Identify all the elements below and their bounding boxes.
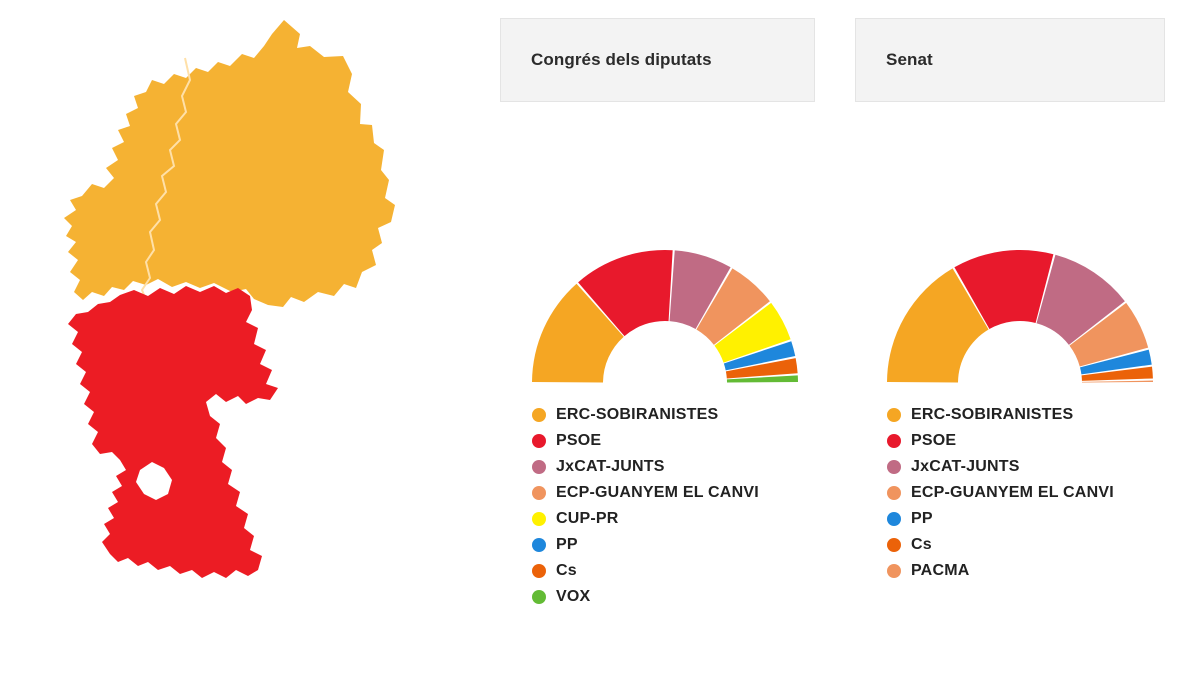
legend-color-swatch bbox=[887, 434, 901, 448]
legend-item[interactable]: ERC-SOBIRANISTES bbox=[887, 402, 1185, 428]
legend-item-label: Cs bbox=[556, 563, 577, 579]
legend-item[interactable]: PP bbox=[887, 506, 1185, 532]
legend-item[interactable]: ECP-GUANYEM EL CANVI bbox=[532, 480, 830, 506]
legend-congres: ERC-SOBIRANISTESPSOEJxCAT-JUNTSECP-GUANY… bbox=[500, 402, 830, 610]
panel-title-congres: Congrés dels diputats bbox=[501, 50, 712, 70]
legend-color-swatch bbox=[532, 434, 546, 448]
hemicycle-congres-svg: ERC-SOBIRANISTES: 13PSOE: 12JxCAT-JUNTS:… bbox=[515, 240, 815, 390]
legend-color-swatch bbox=[887, 538, 901, 552]
hemicycle-congres[interactable]: ERC-SOBIRANISTES: 13PSOE: 12JxCAT-JUNTS:… bbox=[515, 240, 815, 390]
map-region-barcelona-tarragona[interactable] bbox=[68, 286, 278, 578]
legend-item-label: ECP-GUANYEM EL CANVI bbox=[911, 485, 1114, 501]
legend-item-label: PP bbox=[556, 537, 578, 553]
legend-item[interactable]: PP bbox=[532, 532, 830, 558]
legend-item-label: ECP-GUANYEM EL CANVI bbox=[556, 485, 759, 501]
legend-color-swatch bbox=[532, 408, 546, 422]
catalonia-map[interactable] bbox=[0, 0, 480, 620]
legend-item[interactable]: VOX bbox=[532, 584, 830, 610]
legend-color-swatch bbox=[532, 590, 546, 604]
legend-item[interactable]: JxCAT-JUNTS bbox=[532, 454, 830, 480]
election-results-page: Congrés dels diputats Senat ERC-SOBIRANI… bbox=[0, 0, 1200, 675]
legend-item-label: Cs bbox=[911, 537, 932, 553]
legend-item-label: PSOE bbox=[911, 433, 956, 449]
legend-item[interactable]: JxCAT-JUNTS bbox=[887, 454, 1185, 480]
legend-color-swatch bbox=[887, 512, 901, 526]
legend-color-swatch bbox=[532, 564, 546, 578]
legend-item-label: PP bbox=[911, 511, 933, 527]
legend-item-label: VOX bbox=[556, 589, 590, 605]
legend-item-label: PACMA bbox=[911, 563, 969, 579]
legend-item[interactable]: PACMA bbox=[887, 558, 1185, 584]
legend-item[interactable]: Cs bbox=[532, 558, 830, 584]
hemicycle-segment[interactable]: PACMA: 0.4 bbox=[1082, 381, 1153, 383]
legend-item[interactable]: PSOE bbox=[887, 428, 1185, 454]
legend-item[interactable]: PSOE bbox=[532, 428, 830, 454]
legend-item[interactable]: CUP-PR bbox=[532, 506, 830, 532]
legend-item-label: JxCAT-JUNTS bbox=[556, 459, 665, 475]
legend-color-swatch bbox=[887, 460, 901, 474]
legend-color-swatch bbox=[532, 512, 546, 526]
legend-item-label: PSOE bbox=[556, 433, 601, 449]
legend-item[interactable]: ECP-GUANYEM EL CANVI bbox=[887, 480, 1185, 506]
map-svg bbox=[0, 0, 480, 620]
legend-color-swatch bbox=[887, 486, 901, 500]
map-region-lleida-girona[interactable] bbox=[64, 20, 395, 307]
panel-header-congres[interactable]: Congrés dels diputats bbox=[500, 18, 815, 102]
legend-item-label: JxCAT-JUNTS bbox=[911, 459, 1020, 475]
hemicycle-senat-svg: ERC-SOBIRANISTES: 16PSOE: 12JxCAT-JUNTS:… bbox=[870, 240, 1170, 390]
legend-item[interactable]: Cs bbox=[887, 532, 1185, 558]
legend-item[interactable]: ERC-SOBIRANISTES bbox=[532, 402, 830, 428]
legend-senat: ERC-SOBIRANISTESPSOEJxCAT-JUNTSECP-GUANY… bbox=[855, 402, 1185, 584]
legend-color-swatch bbox=[887, 564, 901, 578]
panel-title-senat: Senat bbox=[856, 50, 933, 70]
legend-item-label: ERC-SOBIRANISTES bbox=[911, 407, 1073, 423]
legend-color-swatch bbox=[532, 460, 546, 474]
chart-block-senat: ERC-SOBIRANISTES: 16PSOE: 12JxCAT-JUNTS:… bbox=[855, 240, 1185, 584]
chart-block-congres: ERC-SOBIRANISTES: 13PSOE: 12JxCAT-JUNTS:… bbox=[500, 240, 830, 610]
legend-item-label: ERC-SOBIRANISTES bbox=[556, 407, 718, 423]
legend-color-swatch bbox=[532, 486, 546, 500]
legend-item-label: CUP-PR bbox=[556, 511, 619, 527]
hemicycle-senat[interactable]: ERC-SOBIRANISTES: 16PSOE: 12JxCAT-JUNTS:… bbox=[870, 240, 1170, 390]
panel-header-senat[interactable]: Senat bbox=[855, 18, 1165, 102]
legend-color-swatch bbox=[887, 408, 901, 422]
legend-color-swatch bbox=[532, 538, 546, 552]
